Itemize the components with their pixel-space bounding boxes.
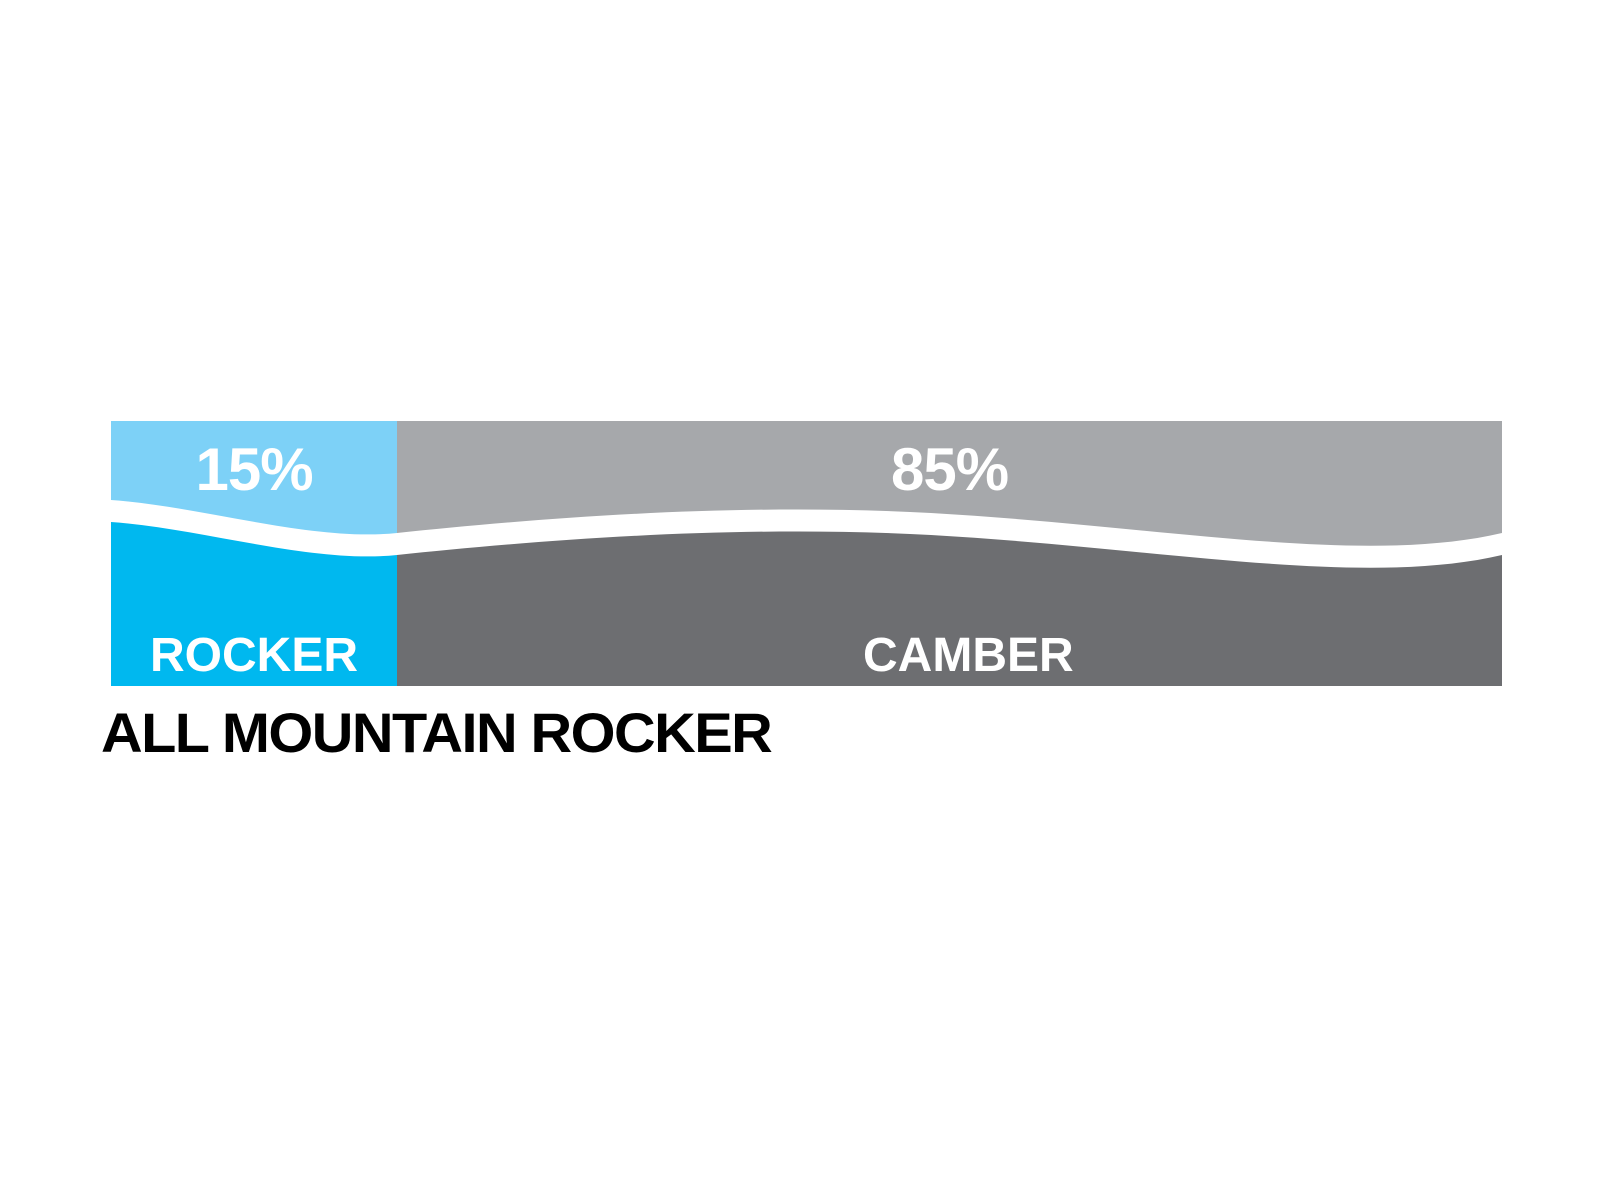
profile-title: ALL MOUNTAIN ROCKER bbox=[101, 705, 771, 761]
rocker-percent-label: 15% bbox=[111, 440, 397, 500]
camber-percent-label: 85% bbox=[397, 440, 1502, 500]
rocker-zone-label: ROCKER bbox=[150, 632, 358, 680]
snowboard-profile-diagram: 15% 85% ROCKER CAMBER ALL MOUNTAIN ROCKE… bbox=[0, 0, 1600, 1200]
camber-zone-label: CAMBER bbox=[863, 632, 1074, 680]
